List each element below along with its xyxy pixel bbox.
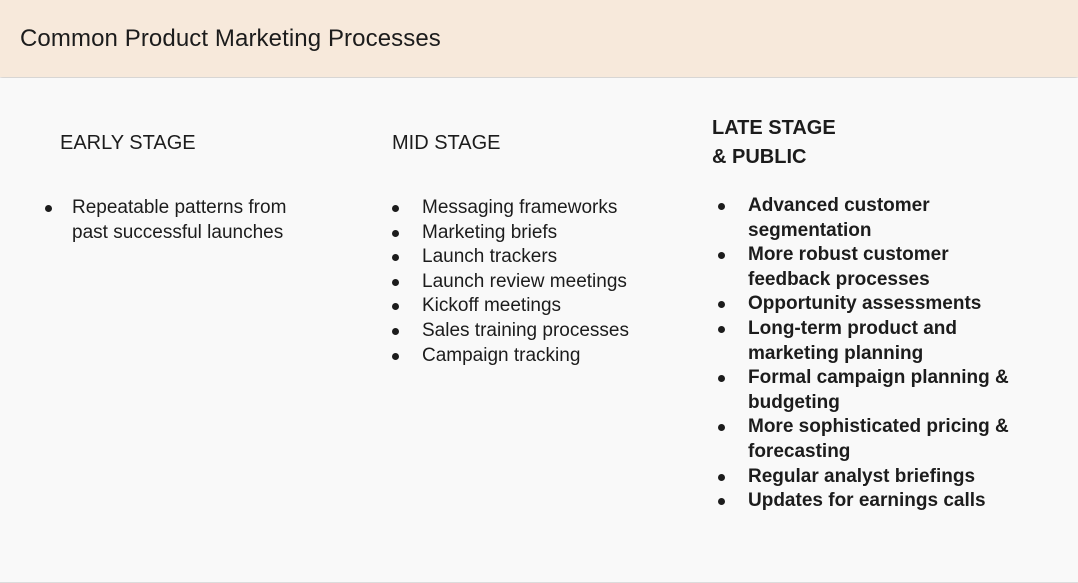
list-item: Campaign tracking [362, 344, 692, 369]
column-heading-mid-stage: MID STAGE [362, 78, 692, 158]
list-item: Marketing briefs [362, 221, 692, 246]
slide-header-band: Common Product Marketing Processes [0, 0, 1078, 77]
column-mid-stage: MID STAGE Messaging frameworks Marketing… [362, 78, 692, 368]
list-item: More sophisticated pricing & forecasting [694, 415, 1049, 464]
bullet-dot-icon [392, 279, 399, 286]
list-item-label: Marketing briefs [422, 221, 692, 246]
list-item: Repeatable patterns from past successful… [30, 196, 360, 245]
bullet-dot-icon [392, 230, 399, 237]
list-item-label: Long-term product and marketing planning [748, 317, 1026, 366]
list-item: Long-term product and marketing planning [694, 317, 1049, 366]
slide-canvas: Common Product Marketing Processes EARLY… [0, 0, 1078, 583]
bullet-dot-icon [392, 205, 399, 212]
bullet-dot-icon [718, 326, 725, 333]
list-item: More robust customer feedback processes [694, 243, 1049, 292]
list-item-label: Campaign tracking [422, 344, 692, 369]
bullet-dot-icon [392, 353, 399, 360]
column-heading-early-stage: EARLY STAGE [30, 78, 360, 158]
list-item-label: Repeatable patterns from past successful… [72, 196, 322, 245]
list-item: Launch review meetings [362, 270, 692, 295]
columns-container: EARLY STAGE Repeatable patterns from pas… [0, 78, 1078, 570]
bullet-dot-icon [392, 303, 399, 310]
bullet-dot-icon [45, 205, 52, 212]
bullet-list-late-stage: Advanced customer segmentation More robu… [694, 172, 1049, 514]
bullet-dot-icon [392, 328, 399, 335]
list-item: Updates for earnings calls [694, 489, 1049, 514]
bullet-dot-icon [718, 474, 725, 481]
list-item: Launch trackers [362, 245, 692, 270]
list-item: Regular analyst briefings [694, 465, 1049, 490]
bullet-dot-icon [718, 203, 725, 210]
bullet-dot-icon [718, 498, 725, 505]
bullet-list-early-stage: Repeatable patterns from past successful… [30, 158, 360, 245]
bullet-dot-icon [392, 254, 399, 261]
list-item-label: Messaging frameworks [422, 196, 692, 221]
bullet-dot-icon [718, 301, 725, 308]
list-item: Opportunity assessments [694, 292, 1049, 317]
list-item: Formal campaign planning & budgeting [694, 366, 1049, 415]
list-item: Kickoff meetings [362, 294, 692, 319]
list-item-label: Advanced customer segmentation [748, 194, 1026, 243]
page-title: Common Product Marketing Processes [20, 25, 441, 53]
list-item-label: Regular analyst briefings [748, 465, 1026, 490]
bullet-dot-icon [718, 375, 725, 382]
list-item-label: Formal campaign planning & budgeting [748, 366, 1026, 415]
column-early-stage: EARLY STAGE Repeatable patterns from pas… [30, 78, 360, 245]
bullet-dot-icon [718, 424, 725, 431]
list-item-label: More robust customer feedback processes [748, 243, 1026, 292]
list-item: Advanced customer segmentation [694, 194, 1049, 243]
list-item-label: Updates for earnings calls [748, 489, 1026, 514]
list-item-label: More sophisticated pricing & forecasting [748, 415, 1026, 464]
list-item-label: Sales training processes [422, 319, 692, 344]
list-item-label: Opportunity assessments [748, 292, 1026, 317]
list-item-label: Kickoff meetings [422, 294, 692, 319]
list-item-label: Launch trackers [422, 245, 692, 270]
column-heading-late-stage-and-public: LATE STAGE & PUBLIC [694, 78, 1049, 172]
column-late-stage-and-public: LATE STAGE & PUBLIC Advanced customer se… [694, 78, 1049, 514]
list-item: Sales training processes [362, 319, 692, 344]
list-item: Messaging frameworks [362, 196, 692, 221]
bullet-dot-icon [718, 252, 725, 259]
list-item-label: Launch review meetings [422, 270, 692, 295]
bullet-list-mid-stage: Messaging frameworks Marketing briefs La… [362, 158, 692, 368]
